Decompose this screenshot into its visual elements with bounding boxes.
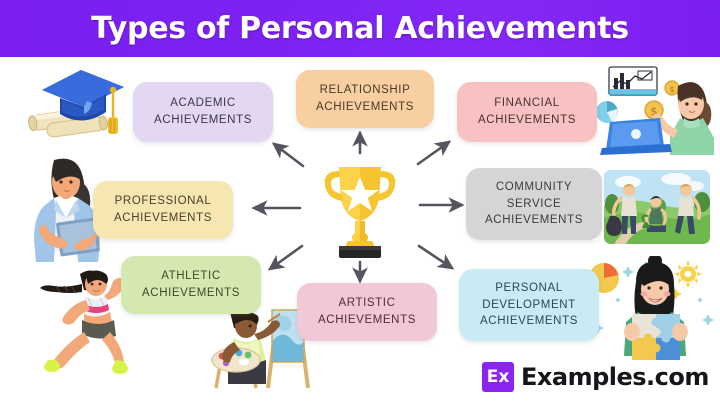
logo-wordmark: Examples.com bbox=[521, 363, 709, 391]
node-academic-achievements[interactable]: ACADEMIC ACHIEVEMENTS bbox=[133, 82, 273, 142]
node-athletic-label: ATHLETIC ACHIEVEMENTS bbox=[142, 268, 240, 301]
arrow-down-left bbox=[270, 246, 302, 269]
infographic-page: Types of Personal Achievements bbox=[0, 0, 720, 404]
node-personal-development-achievements[interactable]: PERSONAL DEVELOPMENT ACHIEVEMENTS bbox=[459, 269, 599, 341]
node-relationship-achievements[interactable]: RELATIONSHIP ACHIEVEMENTS bbox=[296, 70, 434, 128]
node-community-label: COMMUNITY SERVICE ACHIEVEMENTS bbox=[485, 179, 583, 229]
node-financial-achievements[interactable]: FINANCIAL ACHIEVEMENTS bbox=[457, 82, 597, 142]
arrow-down-right bbox=[419, 246, 452, 268]
node-professional-label: PROFESSIONAL ACHIEVEMENTS bbox=[114, 193, 212, 226]
logo-mark: Ex bbox=[482, 362, 514, 392]
arrow-up-right bbox=[418, 142, 449, 164]
trophy-icon bbox=[315, 155, 405, 260]
arrow-up-left bbox=[274, 144, 303, 166]
node-community-service-achievements[interactable]: COMMUNITY SERVICE ACHIEVEMENTS bbox=[466, 168, 602, 240]
node-artistic-achievements[interactable]: ARTISTIC ACHIEVEMENTS bbox=[297, 283, 437, 341]
node-personal-label: PERSONAL DEVELOPMENT ACHIEVEMENTS bbox=[480, 280, 578, 330]
node-athletic-achievements[interactable]: ATHLETIC ACHIEVEMENTS bbox=[121, 256, 261, 314]
node-professional-achievements[interactable]: PROFESSIONAL ACHIEVEMENTS bbox=[93, 181, 233, 239]
node-financial-label: FINANCIAL ACHIEVEMENTS bbox=[478, 95, 576, 128]
node-artistic-label: ARTISTIC ACHIEVEMENTS bbox=[318, 295, 416, 328]
node-academic-label: ACADEMIC ACHIEVEMENTS bbox=[154, 95, 252, 128]
examples-logo[interactable]: Ex Examples.com bbox=[482, 362, 709, 392]
node-relationship-label: RELATIONSHIP ACHIEVEMENTS bbox=[316, 82, 414, 115]
